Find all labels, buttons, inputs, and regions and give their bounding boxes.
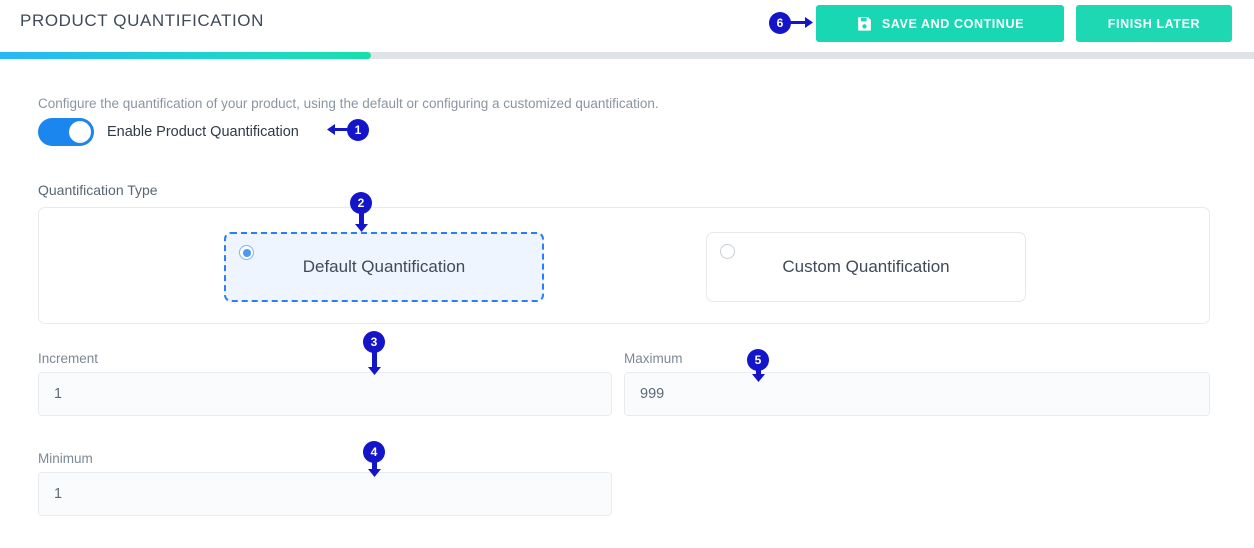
quantification-type-label: Quantification Type — [38, 182, 158, 198]
toggle-knob — [69, 121, 91, 143]
enable-product-quantification-toggle[interactable] — [38, 118, 94, 146]
save-floppy-icon — [856, 15, 873, 32]
increment-field-group: Increment — [38, 351, 612, 416]
minimum-field-group: Minimum — [38, 451, 612, 516]
option-default-quantification[interactable]: Default Quantification — [224, 232, 544, 302]
maximum-label: Maximum — [624, 351, 1210, 366]
option-custom-quantification[interactable]: Custom Quantification — [706, 232, 1026, 302]
annotation-arrow-6 — [790, 16, 814, 29]
wizard-progress-bar — [0, 52, 1254, 59]
annotation-badge-1: 1 — [347, 119, 369, 141]
annotation-badge-2: 2 — [350, 192, 372, 214]
radio-default-quantification-icon[interactable] — [239, 245, 254, 260]
annotation-badge-4: 4 — [363, 441, 385, 463]
product-quantification-page: PRODUCT QUANTIFICATION SAVE AND CONTINUE… — [0, 0, 1254, 548]
wizard-progress-fill — [0, 52, 371, 59]
radio-custom-quantification-icon[interactable] — [720, 244, 735, 259]
page-title: PRODUCT QUANTIFICATION — [20, 11, 264, 31]
enable-product-quantification-label: Enable Product Quantification — [107, 124, 299, 140]
maximum-input[interactable] — [624, 372, 1210, 416]
finish-later-label: FINISH LATER — [1108, 17, 1200, 31]
finish-later-button[interactable]: FINISH LATER — [1076, 5, 1232, 42]
quantification-type-container: Default Quantification Custom Quantifica… — [38, 207, 1210, 324]
page-header: PRODUCT QUANTIFICATION SAVE AND CONTINUE… — [0, 0, 1254, 48]
annotation-badge-5: 5 — [747, 349, 769, 371]
header-actions: SAVE AND CONTINUE FINISH LATER — [816, 5, 1232, 42]
minimum-input[interactable] — [38, 472, 612, 516]
enable-quantification-row[interactable]: Enable Product Quantification — [38, 118, 299, 146]
option-default-quantification-label: Default Quantification — [226, 257, 542, 277]
annotation-badge-6: 6 — [769, 12, 791, 34]
maximum-field-group: Maximum — [624, 351, 1210, 416]
increment-input[interactable] — [38, 372, 612, 416]
minimum-label: Minimum — [38, 451, 612, 466]
page-description: Configure the quantification of your pro… — [38, 96, 659, 111]
save-and-continue-button[interactable]: SAVE AND CONTINUE — [816, 5, 1064, 42]
annotation-badge-3: 3 — [363, 331, 385, 353]
option-custom-quantification-label: Custom Quantification — [707, 257, 1025, 277]
save-and-continue-label: SAVE AND CONTINUE — [882, 17, 1024, 31]
increment-label: Increment — [38, 351, 612, 366]
